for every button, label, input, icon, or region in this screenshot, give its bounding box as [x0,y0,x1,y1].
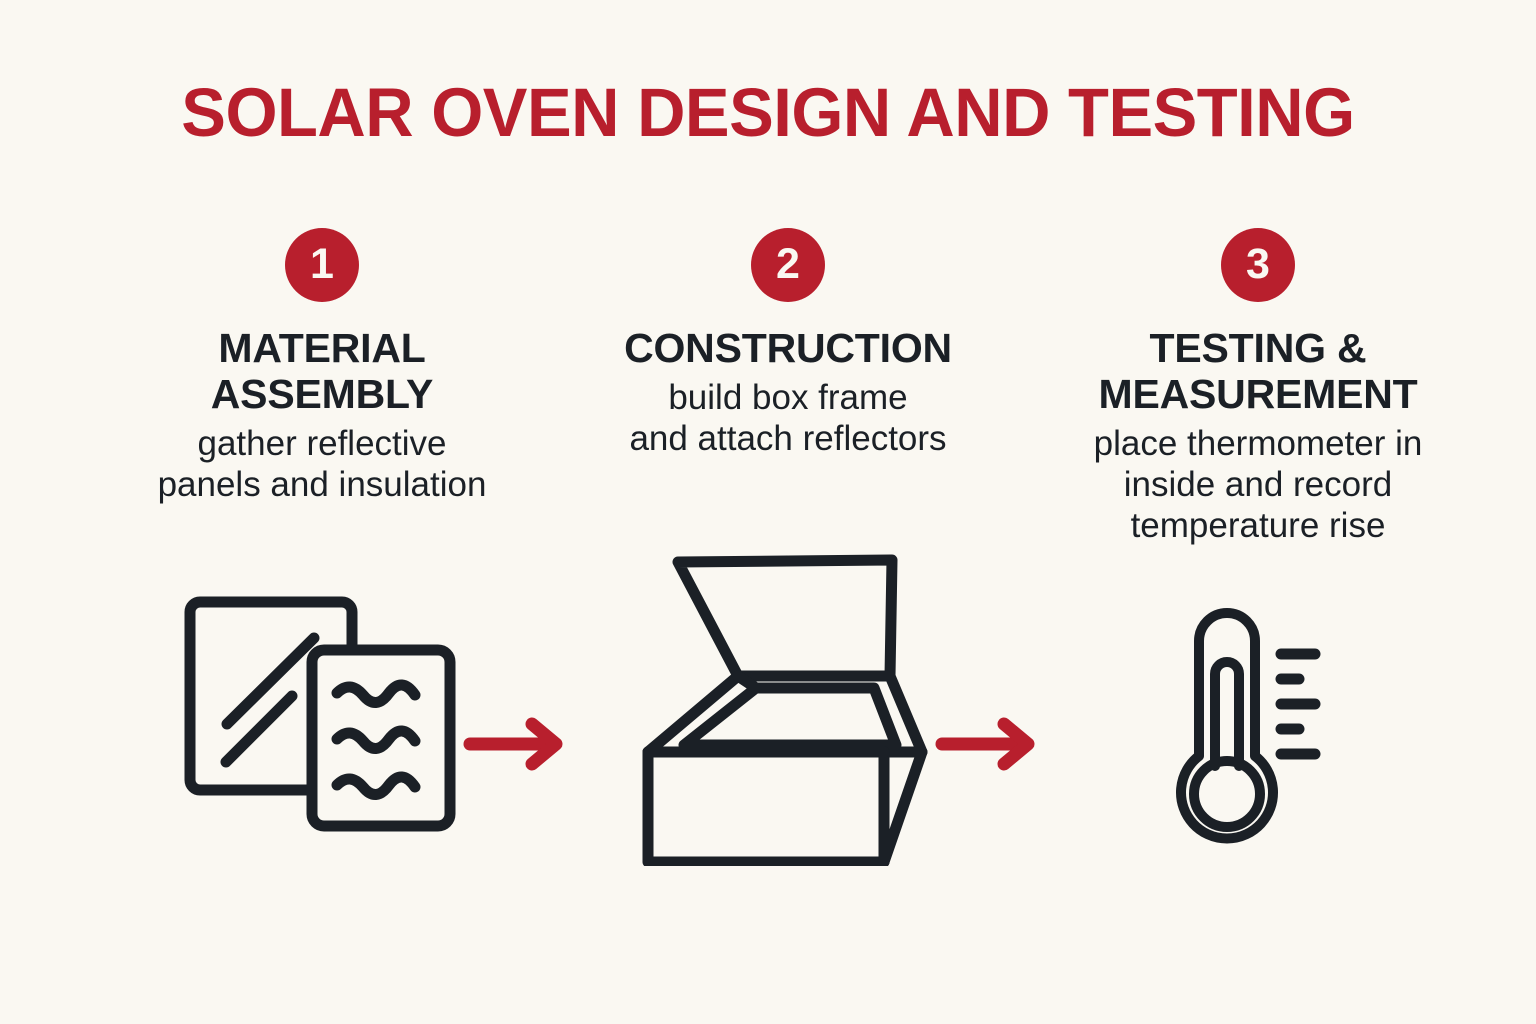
right-arrow-icon [934,714,1044,774]
mirror-shine-line-short [226,696,292,762]
thermometer-bulb-inner [1194,761,1260,827]
steps-row: 1 MATERIAL ASSEMBLY gather reflective pa… [0,228,1536,988]
thermometer-scale-ticks [1281,654,1315,754]
step-subtext-2: build box frame and attach reflectors [629,377,946,460]
step-number-label-1: 1 [310,243,334,286]
right-arrow-icon [462,714,572,774]
step-card-1: 1 MATERIAL ASSEMBLY gather reflective pa… [102,228,542,505]
step-headline-2: CONSTRUCTION [624,326,952,372]
infographic-poster: SOLAR OVEN DESIGN AND TESTING 1 MATERIAL… [0,0,1536,1024]
step-icon-wrap-3 [1038,596,1478,846]
step-number-label-2: 2 [776,243,800,286]
arrow-step2-to-step3 [934,714,1044,779]
step-number-badge-1: 1 [285,228,359,302]
step-card-2: 2 CONSTRUCTION build box frame and attac… [568,228,1008,460]
thermometer-stem-inner [1215,662,1239,766]
step-subtext-1: gather reflective panels and insulation [158,423,487,506]
step-icon-wrap-2 [568,546,1008,866]
step-number-badge-3: 3 [1221,228,1295,302]
step-headline-3: TESTING & MEASUREMENT [1099,326,1418,418]
step-subtext-3: place thermometer in inside and record t… [1094,423,1423,547]
oven-lid-panel [678,560,892,676]
step-number-badge-2: 2 [751,228,825,302]
page-title: SOLAR OVEN DESIGN AND TESTING [23,78,1513,147]
step-icon-wrap-1 [102,576,542,846]
step-headline-1: MATERIAL ASSEMBLY [211,326,433,418]
thermometer-icon [1163,596,1353,846]
open-box-oven-icon [638,546,938,866]
step-number-label-3: 3 [1246,243,1270,286]
step-card-3: 3 TESTING & MEASUREMENT place thermomete… [1038,228,1478,547]
reflective-panels-icon [172,576,472,846]
arrow-step1-to-step2 [462,714,572,779]
